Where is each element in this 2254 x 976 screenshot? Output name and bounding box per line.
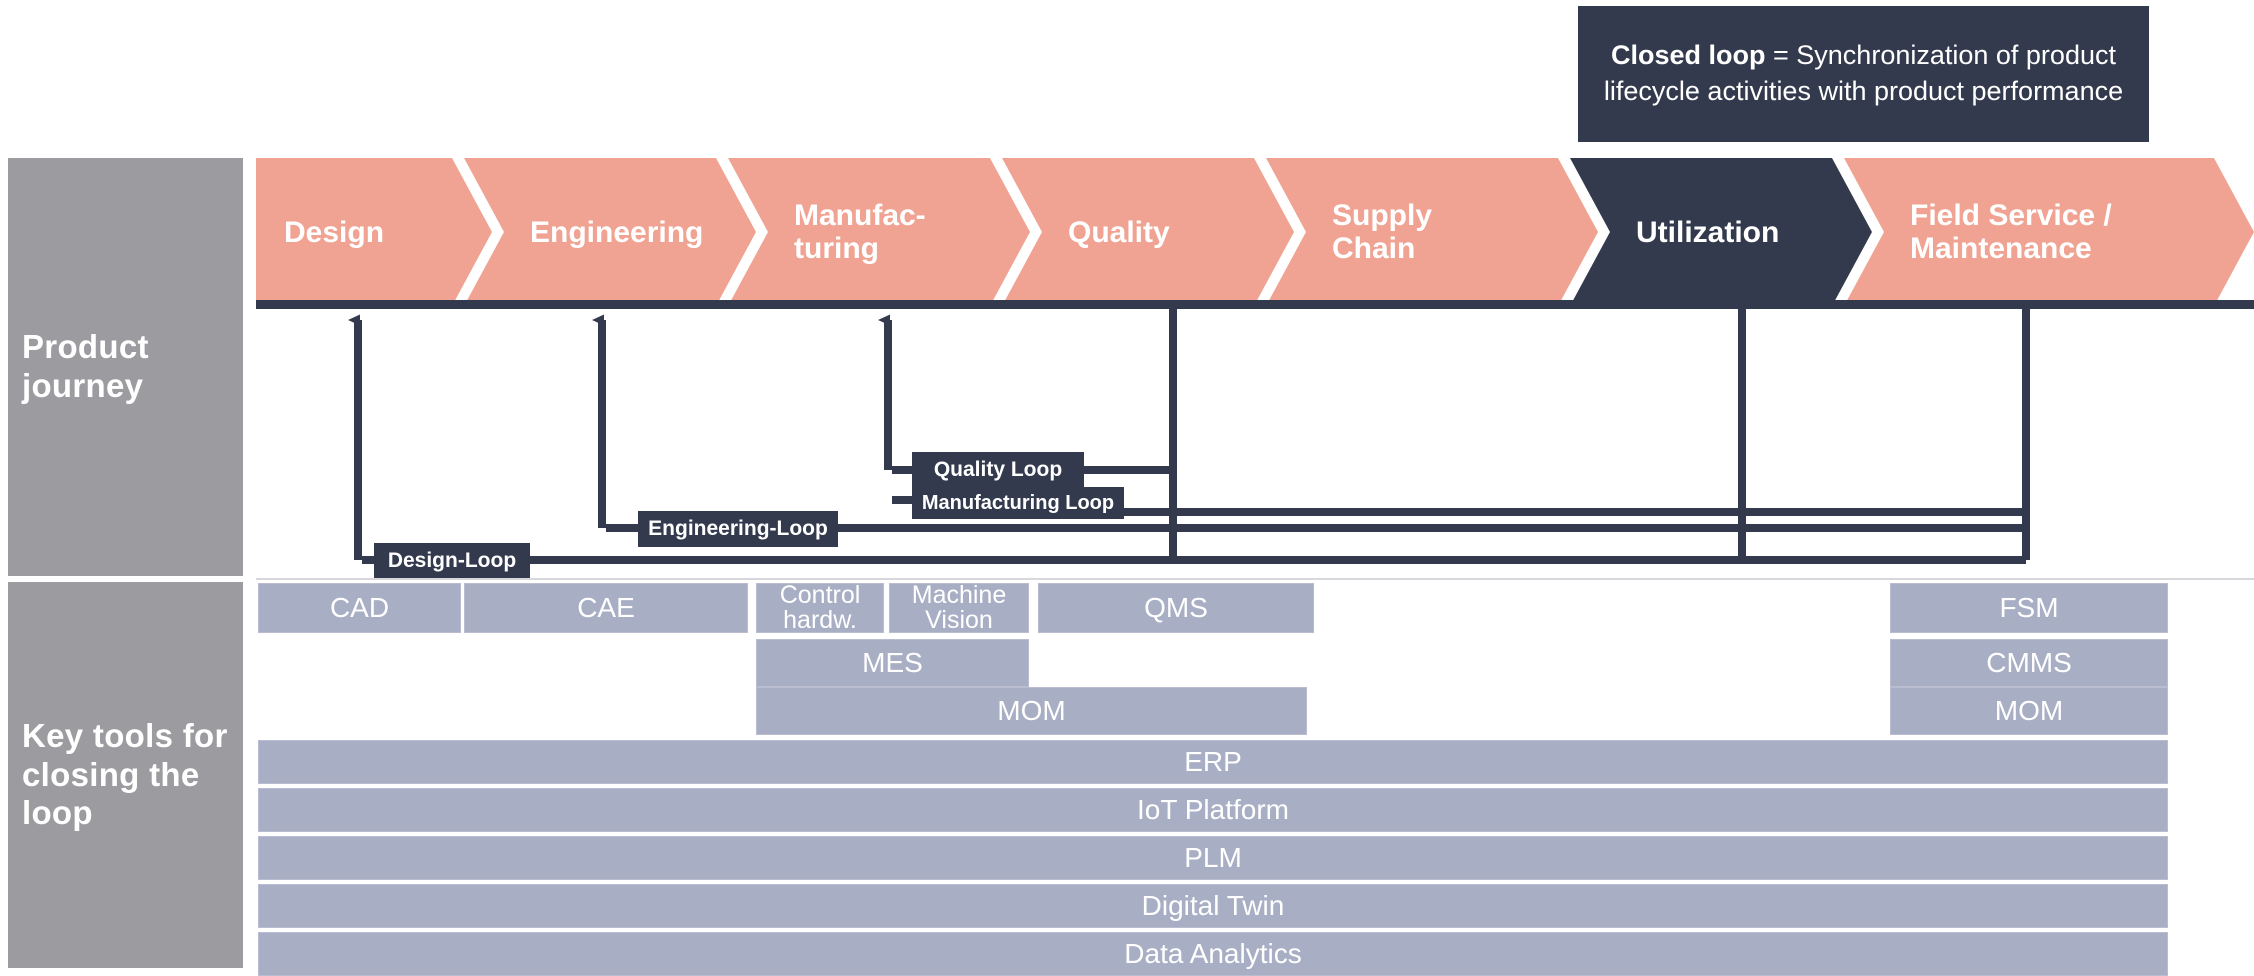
journey-stage-field-service-label: Field Service / Maintenance [1910, 199, 2112, 265]
tool-mom-right-label: MOM [1995, 696, 2063, 725]
loop-label-engineering-text: Engineering-Loop [648, 517, 828, 541]
diagram-canvas: Closed loop = Synchronization of product… [0, 0, 2254, 976]
journey-stage-supply-chain-label: Supply Chain [1332, 199, 1432, 265]
tool-digital-twin-label: Digital Twin [1142, 891, 1285, 920]
journey-stage-utilization-label: Utilization [1636, 216, 1779, 249]
tool-iot-platform[interactable]: IoT Platform [258, 788, 2168, 832]
loop-label-manufacturing[interactable]: Manufacturing Loop [912, 487, 1124, 519]
closed-loop-term: Closed loop [1611, 40, 1766, 70]
tool-machine-vision[interactable]: Machine Vision [889, 583, 1029, 633]
tool-plm[interactable]: PLM [258, 836, 2168, 880]
tool-mom-left[interactable]: MOM [756, 687, 1307, 735]
tool-cae[interactable]: CAE [464, 583, 748, 633]
tool-mes[interactable]: MES [756, 639, 1029, 687]
tool-mom-left-label: MOM [997, 696, 1065, 725]
loop-label-engineering[interactable]: Engineering-Loop [638, 511, 838, 547]
tool-fsm[interactable]: FSM [1890, 583, 2168, 633]
journey-stage-manufacturing[interactable]: Manufac- turing [728, 158, 1030, 306]
tool-plm-label: PLM [1184, 843, 1242, 872]
sidebar-row-key-tools: Key tools for closing the loop [8, 582, 243, 968]
product-journey-chevrons: Design Engineering Manufac- turing Quali… [256, 158, 2254, 306]
journey-stage-engineering[interactable]: Engineering [464, 158, 756, 306]
tool-digital-twin[interactable]: Digital Twin [258, 884, 2168, 928]
journey-stage-supply-chain[interactable]: Supply Chain [1266, 158, 1598, 306]
loop-label-design-text: Design-Loop [388, 549, 516, 573]
closed-loop-callout-text: Closed loop = Synchronization of product… [1594, 38, 2133, 109]
sidebar-row-key-tools-label: Key tools for closing the loop [22, 717, 243, 834]
tool-data-analytics[interactable]: Data Analytics [258, 932, 2168, 976]
tool-erp-label: ERP [1184, 747, 1242, 776]
tool-qms-label: QMS [1144, 593, 1208, 622]
tool-cae-label: CAE [577, 593, 635, 622]
journey-stage-quality[interactable]: Quality [1002, 158, 1294, 306]
journey-stage-field-service[interactable]: Field Service / Maintenance [1844, 158, 2254, 306]
sidebar-row-product-journey: Product journey [8, 158, 243, 576]
tool-cad[interactable]: CAD [258, 583, 461, 633]
loop-label-quality[interactable]: Quality Loop [912, 452, 1084, 487]
closed-loop-callout: Closed loop = Synchronization of product… [1578, 6, 2149, 142]
sidebar-row-product-journey-label: Product journey [22, 328, 243, 406]
loop-label-design[interactable]: Design-Loop [374, 543, 530, 578]
tool-machine-vision-label: Machine Vision [890, 583, 1028, 633]
tool-data-analytics-label: Data Analytics [1124, 939, 1301, 968]
tool-erp[interactable]: ERP [258, 740, 2168, 784]
tool-cmms-label: CMMS [1986, 648, 2072, 677]
journey-stage-manufacturing-label: Manufac- turing [794, 199, 926, 265]
loop-label-manufacturing-text: Manufacturing Loop [922, 492, 1114, 515]
section-divider [256, 578, 2254, 580]
tool-control-hardware[interactable]: Control hardw. [756, 583, 884, 633]
journey-stage-quality-label: Quality [1068, 216, 1170, 249]
tool-qms[interactable]: QMS [1038, 583, 1314, 633]
tool-control-hardware-label: Control hardw. [757, 583, 883, 633]
loop-label-quality-text: Quality Loop [934, 458, 1062, 482]
tool-fsm-label: FSM [1999, 593, 2058, 622]
tool-iot-platform-label: IoT Platform [1137, 795, 1289, 824]
tool-mes-label: MES [862, 648, 923, 677]
tool-cad-label: CAD [330, 593, 389, 622]
journey-stage-utilization[interactable]: Utilization [1570, 158, 1872, 306]
tool-mom-right[interactable]: MOM [1890, 687, 2168, 735]
journey-stage-design[interactable]: Design [256, 158, 492, 306]
journey-stage-engineering-label: Engineering [530, 216, 703, 249]
tool-cmms[interactable]: CMMS [1890, 639, 2168, 687]
journey-stage-design-label: Design [284, 216, 384, 249]
journey-baseline [256, 300, 2254, 309]
